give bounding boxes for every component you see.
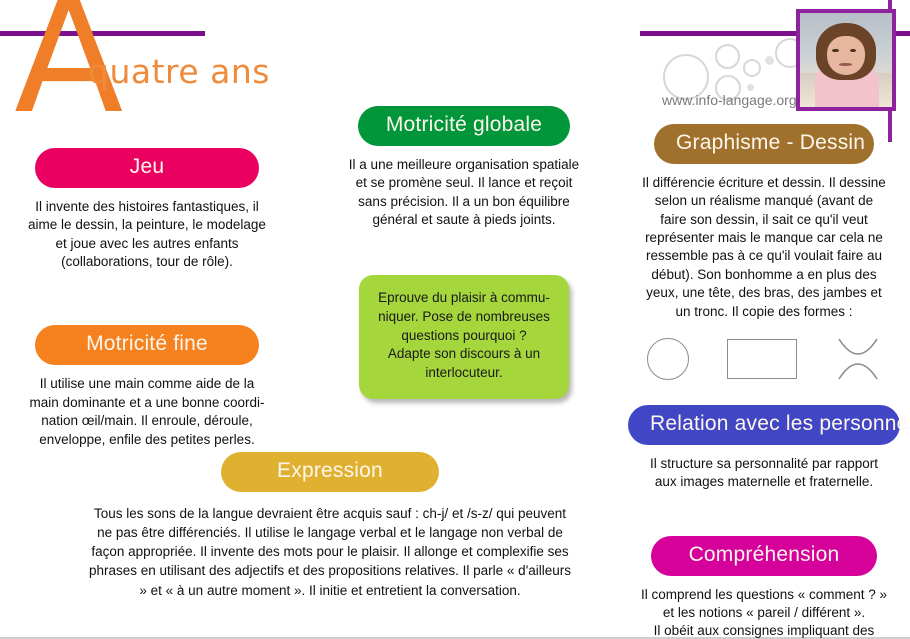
- section-heading-graphisme: Graphisme - Dessin: [654, 124, 874, 164]
- section-text-graphisme: Il différencie écriture et dessin. Il de…: [622, 174, 906, 321]
- column-middle: Motricité globale Il a une meilleure org…: [330, 106, 598, 399]
- column-right: Graphisme - Dessin Il différencie écritu…: [622, 124, 906, 639]
- section-text-jeu: Il invente des histoires fantastiques, i…: [6, 198, 288, 271]
- communication-callout: Eprouve du plaisir à commu- niquer. Pose…: [359, 275, 569, 398]
- page-title: quatre ans: [88, 52, 270, 91]
- poster-page: A quatre ans www.info-langage.org Jeu Il…: [0, 0, 910, 639]
- header-rule-right: [640, 31, 800, 36]
- section-expression: Expression Tous les sons de la langue de…: [80, 452, 580, 600]
- rectangle-shape-icon: [727, 339, 797, 379]
- circle-shape-icon: [647, 338, 689, 380]
- section-heading-expression: Expression: [221, 452, 439, 492]
- child-photo: [796, 9, 896, 111]
- section-heading-comprehension: Compréhension: [651, 536, 877, 576]
- site-url[interactable]: www.info-langage.org: [662, 92, 797, 108]
- section-heading-motricite-globale: Motricité globale: [358, 106, 570, 146]
- copied-shapes-row: [622, 335, 906, 383]
- section-text-motricite-fine: Il utilise une main comme aide de la mai…: [6, 375, 288, 448]
- section-text-comprehension: Il comprend les questions « comment ? » …: [622, 586, 906, 639]
- section-text-expression: Tous les sons de la langue devraient êtr…: [80, 504, 580, 600]
- column-left: Jeu Il invente des histoires fantastique…: [6, 148, 288, 449]
- section-text-motricite-globale: Il a une meilleure organisation spatiale…: [330, 156, 598, 229]
- section-heading-relation: Relation avec les personnes: [628, 405, 900, 445]
- section-heading-motricite-fine: Motricité fine: [35, 325, 259, 365]
- section-text-relation: Il structure sa personnalité par rapport…: [622, 455, 906, 492]
- section-heading-jeu: Jeu: [35, 148, 259, 188]
- opposed-arcs-shape-icon: [835, 335, 881, 383]
